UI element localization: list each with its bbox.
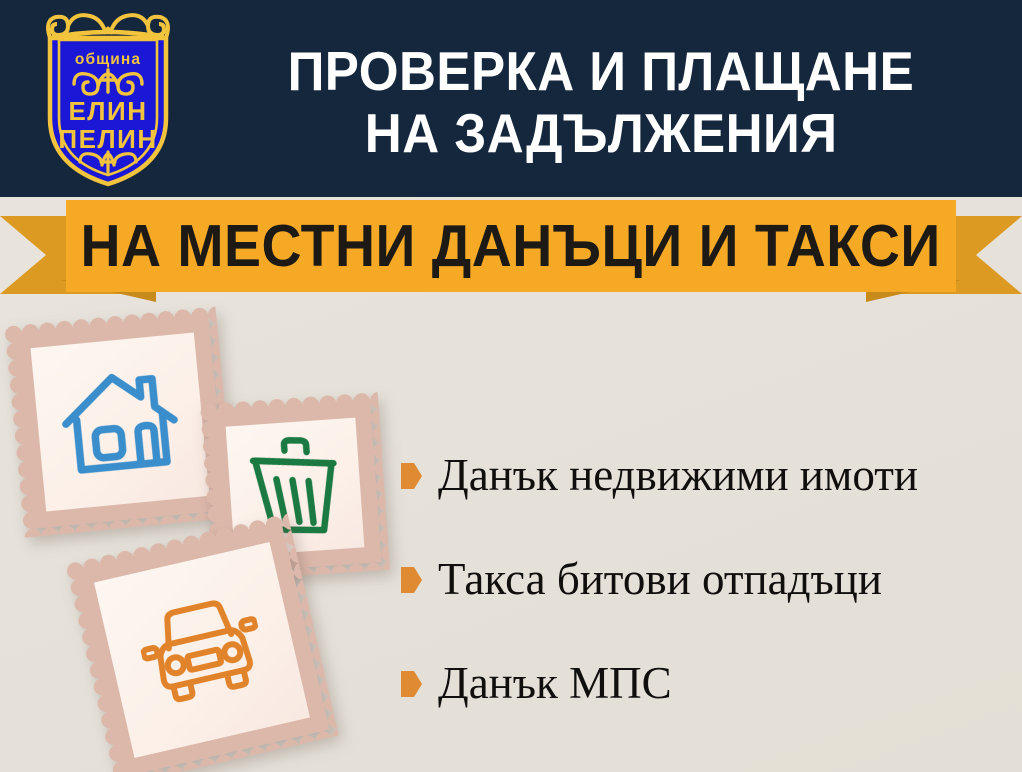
stamp-face	[31, 333, 210, 512]
arrow-bullet-icon	[401, 463, 422, 489]
list-item-label: Данък недвижими имоти	[438, 452, 918, 499]
list-item[interactable]: Данък МПС	[401, 632, 1011, 736]
ribbon-bar: НА МЕСТНИ ДАНЪЦИ И ТАКСИ	[66, 200, 956, 292]
title-line-2: НА ЗАДЪЛЖЕНИЯ	[365, 102, 838, 164]
list-item-label: Такса битови отпадъци	[438, 556, 882, 603]
subtitle-ribbon: НА МЕСТНИ ДАНЪЦИ И ТАКСИ	[0, 196, 1022, 308]
car-front-icon	[133, 589, 272, 711]
tax-type-list: Данък недвижими имоти Такса битови отпад…	[401, 424, 1011, 736]
ribbon-text: НА МЕСТНИ ДАНЪЦИ И ТАКСИ	[81, 217, 941, 276]
poster-canvas: община ЕЛИН ПЕЛИН ПРОВЕРКА	[0, 0, 1022, 772]
list-item[interactable]: Такса битови отпадъци	[401, 528, 1011, 632]
arrow-bullet-icon	[401, 567, 422, 593]
list-item[interactable]: Данък недвижими имоти	[401, 424, 1011, 528]
logo-name-line2: ПЕЛИН	[58, 124, 157, 154]
municipality-logo: община ЕЛИН ПЕЛИН	[28, 8, 188, 190]
arrow-bullet-icon	[401, 671, 422, 697]
poster-title: ПРОВЕРКА И ПЛАЩАНЕ НА ЗАДЪЛЖЕНИЯ	[196, 22, 1006, 182]
title-line-1: ПРОВЕРКА И ПЛАЩАНЕ	[288, 40, 915, 102]
list-item-label: Данък МПС	[438, 660, 672, 707]
logo-name-line1: ЕЛИН	[68, 96, 147, 126]
house-icon	[54, 360, 186, 483]
logo-top-label: община	[75, 51, 141, 68]
